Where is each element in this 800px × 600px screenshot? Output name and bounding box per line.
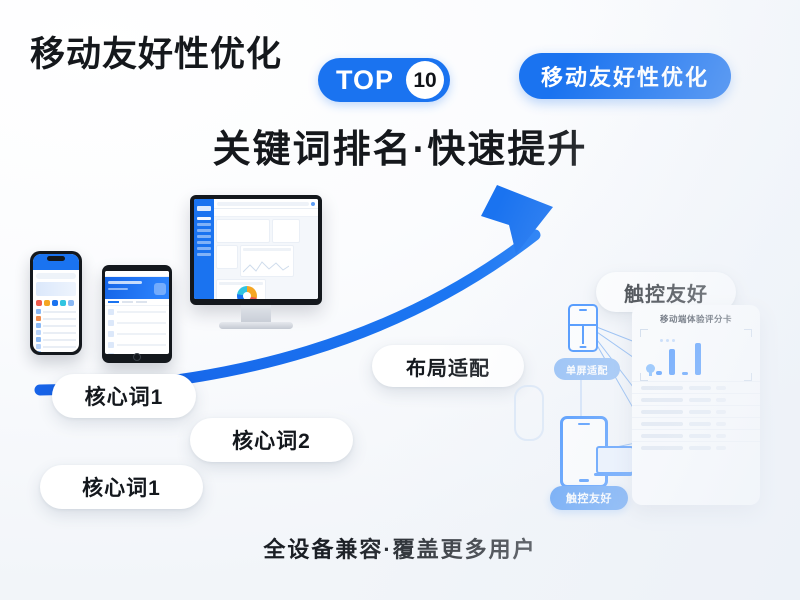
table-row xyxy=(632,429,760,441)
tablet-mockup xyxy=(102,265,172,363)
table-row xyxy=(632,405,760,417)
dashboard-widget xyxy=(216,219,270,243)
top-rank-badge: TOP 10 xyxy=(318,58,450,102)
scorecard-title: 移动端体验评分卡 xyxy=(632,305,760,329)
phone-notch xyxy=(47,256,65,261)
list-item xyxy=(33,336,79,343)
list-item xyxy=(33,308,79,315)
diagram-badge-top: 单屏适配 xyxy=(554,358,620,380)
dashboard-topbar xyxy=(214,199,318,209)
monitor-base xyxy=(219,322,293,329)
dashboard-nav-item xyxy=(197,247,211,250)
dashboard-logo xyxy=(197,206,211,211)
table-row xyxy=(632,441,760,453)
phone-banner xyxy=(36,282,76,296)
dashboard-nav-item xyxy=(197,241,211,244)
top-rank-number: 10 xyxy=(406,61,444,99)
location-pin-icon xyxy=(646,364,655,373)
tablet-home-button xyxy=(133,353,141,361)
small-phone-icon xyxy=(568,304,598,352)
keyword-pill-1: 核心词1 xyxy=(52,374,196,418)
dashboard-nav-item xyxy=(197,223,211,226)
tablet-screen xyxy=(105,271,169,354)
phone-icon-row xyxy=(33,298,79,308)
dashboard-avatar xyxy=(311,202,315,206)
list-item xyxy=(105,339,169,350)
dashboard-widget-grid xyxy=(214,217,318,299)
donut-chart-icon xyxy=(237,286,257,299)
smartphone-mockup xyxy=(30,251,82,355)
poster-canvas: 移动友好性优化 TOP 10 移动友好性优化 关键词排名·快速提升 xyxy=(0,0,800,600)
list-item xyxy=(33,315,79,322)
mobile-scorecard: 移动端体验评分卡 xyxy=(632,305,760,505)
decorative-blob xyxy=(514,385,544,441)
device-connection-diagram: 单屏适配 触控友好 xyxy=(548,300,638,510)
phone-search-bar xyxy=(36,273,76,279)
table-row xyxy=(632,417,760,429)
chart-bars xyxy=(656,343,701,375)
monitor-stand xyxy=(241,305,271,323)
list-item xyxy=(33,350,79,352)
dashboard-nav-item xyxy=(197,253,211,256)
footer-tagline: 全设备兼容·覆盖更多用户 xyxy=(0,532,800,564)
dashboard-widget xyxy=(272,219,300,243)
table-row xyxy=(632,381,760,393)
table-row xyxy=(632,393,760,405)
list-item xyxy=(33,343,79,350)
phone-screen xyxy=(33,254,79,352)
keyword-pill-2: 核心词2 xyxy=(190,418,353,462)
list-item xyxy=(105,317,169,328)
dashboard-main xyxy=(214,199,318,299)
list-item xyxy=(105,306,169,317)
layout-fit-pill: 布局适配 xyxy=(372,345,524,387)
desktop-monitor-mockup xyxy=(190,195,322,305)
list-item xyxy=(105,328,169,339)
chart-dots-icon xyxy=(660,339,675,342)
monitor-screen xyxy=(194,199,318,299)
dashboard-sidebar xyxy=(194,199,214,299)
diagram-badge-bottom: 触控友好 xyxy=(550,486,628,510)
tablet-banner xyxy=(105,277,169,299)
dashboard-widget xyxy=(216,245,238,269)
top-rank-label: TOP xyxy=(336,67,406,94)
dashboard-subbar xyxy=(214,209,318,217)
tablet-tab-row xyxy=(105,299,169,306)
laptop-icon xyxy=(594,446,632,478)
dashboard-nav-item xyxy=(197,235,211,238)
list-item xyxy=(33,322,79,329)
page-title: 移动友好性优化 xyxy=(30,26,282,77)
dashboard-search-bar xyxy=(217,202,309,206)
device-mockup-group xyxy=(30,195,320,365)
scorecard-chart xyxy=(640,329,752,381)
keyword-pill-3: 核心词1 xyxy=(40,465,203,509)
dashboard-nav-item xyxy=(197,217,211,220)
list-item xyxy=(33,329,79,336)
dashboard-donut-chart xyxy=(216,279,266,299)
dashboard-line-chart xyxy=(240,245,294,277)
header-blue-badge: 移动友好性优化 xyxy=(519,53,731,99)
dashboard-nav-item xyxy=(197,229,211,232)
